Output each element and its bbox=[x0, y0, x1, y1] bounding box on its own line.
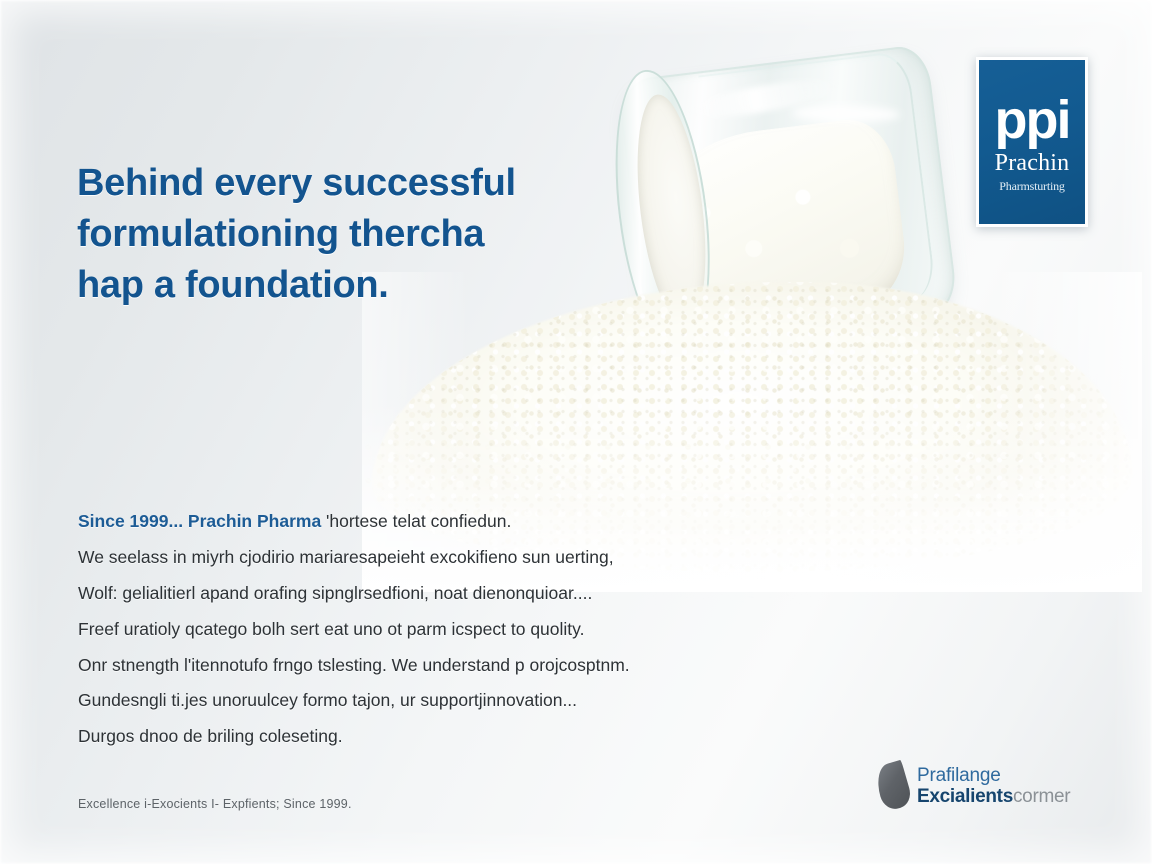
excipients-logo-light: cormer bbox=[1013, 786, 1070, 807]
headline-line-3: hap a foundation. bbox=[77, 260, 637, 311]
excipients-logo-bottom: Excialientscormer bbox=[917, 786, 1070, 807]
ppi-company-name: Prachin bbox=[995, 150, 1070, 176]
headline-line-2: formulationing thercha bbox=[77, 209, 637, 260]
body-lead-highlight: Since 1999... Prachin Pharma bbox=[78, 511, 321, 531]
excipients-logo: Prafilange Excialientscormer bbox=[878, 756, 1108, 816]
droplet-icon bbox=[872, 760, 914, 812]
body-line-3: Wolf: gelialitierl apand orafing sipnglr… bbox=[78, 576, 868, 612]
body-line-7: Durgos dnoo de briling coleseting. bbox=[78, 719, 868, 755]
headline-line-1: Behind every successful bbox=[77, 158, 637, 209]
body-line-5: Onr stnength l'itennotufo frngo tslestin… bbox=[78, 648, 868, 684]
body-line-6: Gundesngli ti.jes unoruulcey formo tajon… bbox=[78, 683, 868, 719]
marketing-poster: Behind every successful formulationing t… bbox=[0, 0, 1152, 864]
excipients-logo-text: Prafilange Excialientscormer bbox=[917, 765, 1070, 808]
headline: Behind every successful formulationing t… bbox=[77, 158, 637, 311]
ppi-company-descriptor: Pharmsturting bbox=[999, 180, 1064, 193]
body-line-2: We seelass in miyrh cjodirio mariaresape… bbox=[78, 540, 868, 576]
body-line-1-rest: 'hortese telat confiedun. bbox=[321, 511, 511, 531]
excipients-logo-bold: Excialients bbox=[917, 786, 1013, 807]
ppi-wordmark: ppi bbox=[995, 97, 1070, 145]
body-line-1: Since 1999... Prachin Pharma 'hortese te… bbox=[78, 504, 868, 540]
body-copy: Since 1999... Prachin Pharma 'hortese te… bbox=[78, 504, 868, 755]
footer-tagline: Excellence i-Exocients I- Expfients; Sin… bbox=[78, 797, 352, 811]
ppi-logo: ppi Prachin Pharmsturting bbox=[976, 57, 1088, 227]
body-line-4: Freef uratioly qcatego bolh sert eat uno… bbox=[78, 612, 868, 648]
excipients-logo-top: Prafilange bbox=[917, 765, 1070, 786]
